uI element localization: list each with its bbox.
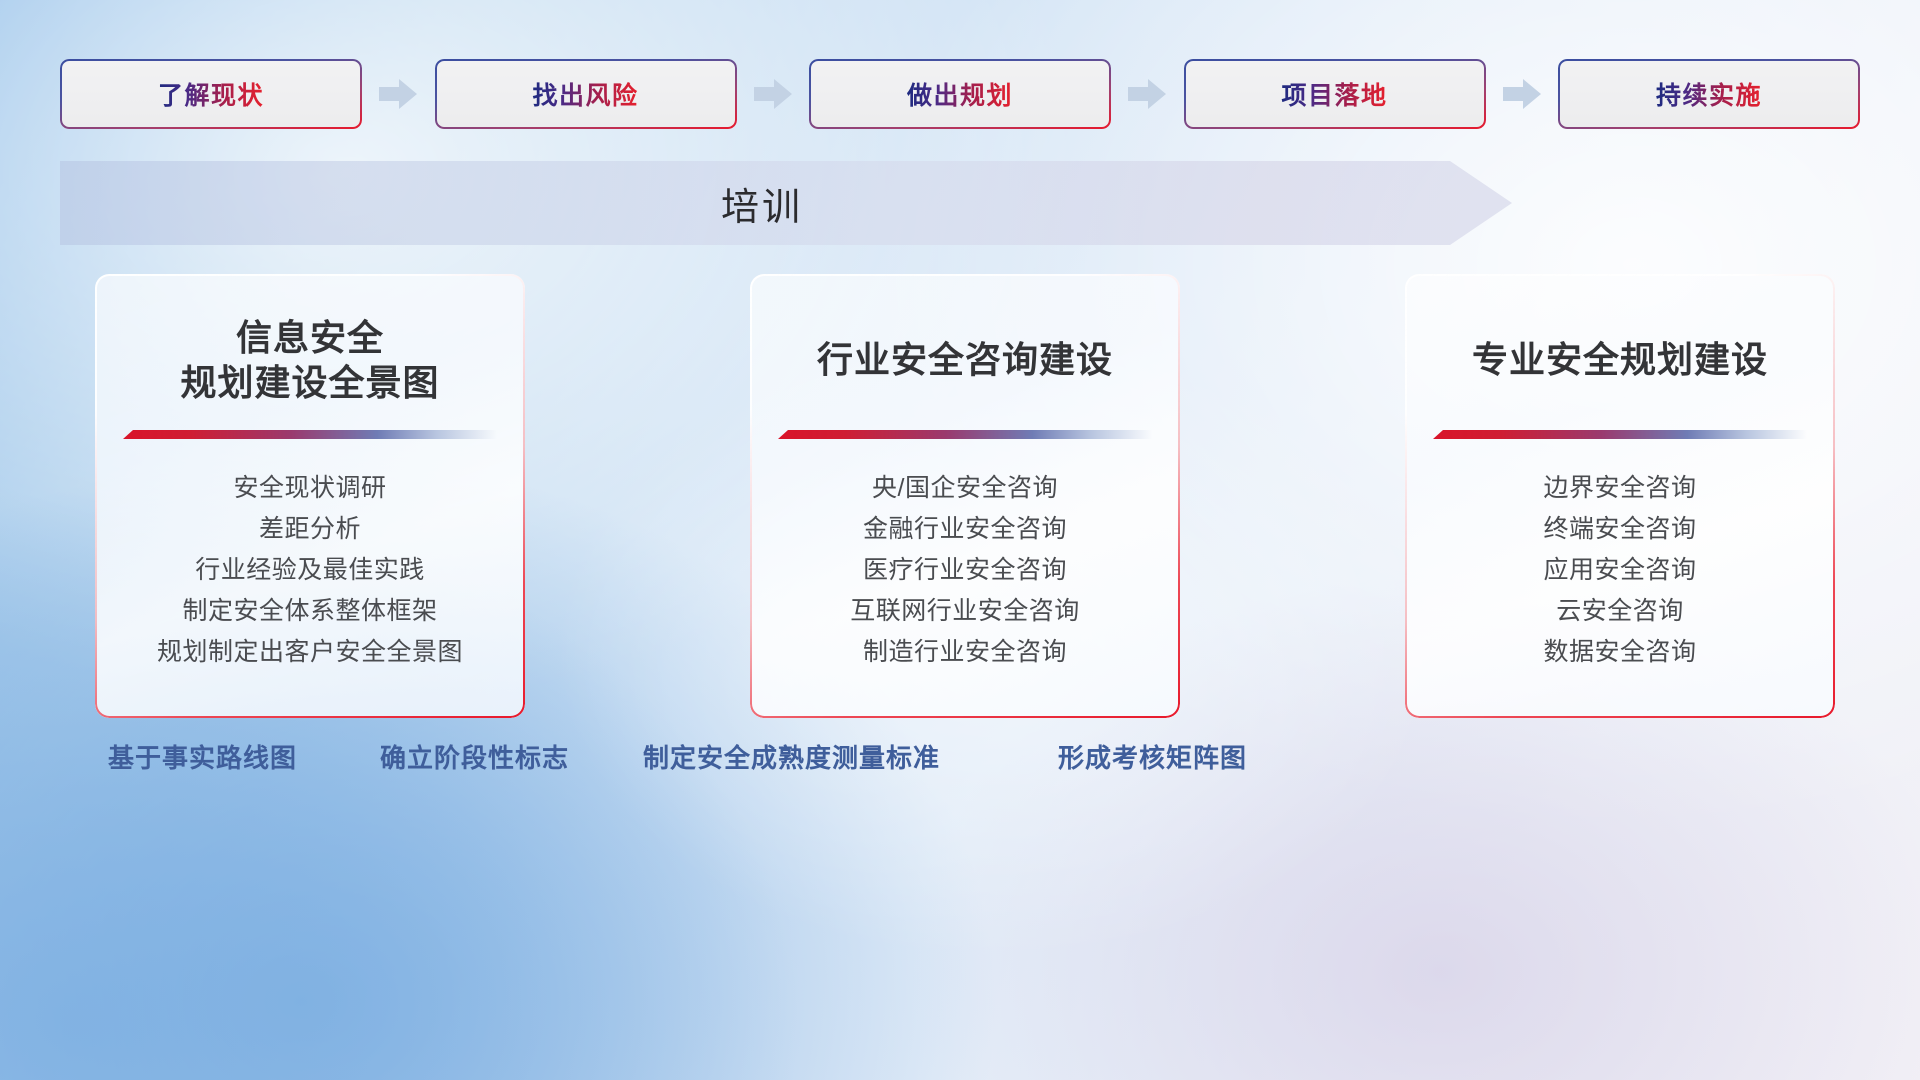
card-divider (1433, 426, 1807, 444)
list-item: 差距分析 (259, 509, 361, 550)
step-label-1: 了解现状 (158, 76, 264, 112)
arrow-right-icon (1128, 77, 1166, 111)
step-box-5[interactable]: 持续实施 (1558, 59, 1860, 129)
list-item: 制定安全体系整体框架 (182, 591, 437, 632)
list-item: 安全现状调研 (233, 468, 386, 509)
card-item-list: 安全现状调研 差距分析 行业经验及最佳实践 制定安全体系整体框架 规划制定出客户… (95, 468, 525, 673)
card-industry-security-consulting[interactable]: 行业安全咨询建设 央/国企安全咨询 金融行业安全咨询 医疗行业安全咨询 互联网行… (750, 274, 1180, 718)
footer-label-row: 基于事实路线图 确立阶段性标志 制定安全成熟度测量标准 形成考核矩阵图 (0, 738, 1920, 798)
step-box-4[interactable]: 项目落地 (1184, 59, 1486, 129)
card-title: 信息安全 规划建设全景图 (95, 274, 525, 408)
card-divider (778, 426, 1152, 444)
arrow-right-icon (754, 77, 792, 111)
card-item-list: 边界安全咨询 终端安全咨询 应用安全咨询 云安全咨询 数据安全咨询 (1405, 468, 1835, 673)
banner-title: 培训 (60, 161, 1512, 245)
training-banner: 培训 (60, 161, 1512, 245)
divider-gradient-bar (123, 430, 497, 439)
step-label-2: 找出风险 (532, 76, 638, 112)
card-info-security-blueprint[interactable]: 信息安全 规划建设全景图 安全现状调研 差距分析 行业经验及最佳实践 制定安全体… (95, 274, 525, 718)
list-item: 应用安全咨询 (1543, 550, 1696, 591)
footer-label-1: 基于事实路线图 (108, 738, 297, 775)
arrow-right-icon (379, 77, 417, 111)
footer-label-3: 制定安全成熟度测量标准 (643, 738, 940, 775)
step-box-3[interactable]: 做出规划 (809, 59, 1111, 129)
divider-gradient-bar (778, 430, 1152, 439)
list-item: 云安全咨询 (1556, 591, 1684, 632)
list-item: 互联网行业安全咨询 (850, 591, 1080, 632)
list-item: 行业经验及最佳实践 (195, 550, 425, 591)
list-item: 数据安全咨询 (1543, 632, 1696, 673)
divider-gradient-bar (1433, 430, 1807, 439)
card-group: 信息安全 规划建设全景图 安全现状调研 差距分析 行业经验及最佳实践 制定安全体… (95, 274, 1835, 718)
card-professional-security-planning[interactable]: 专业安全规划建设 边界安全咨询 终端安全咨询 应用安全咨询 云安全咨询 数据安全… (1405, 274, 1835, 718)
card-title: 专业安全规划建设 (1405, 274, 1835, 408)
step-label-5: 持续实施 (1656, 76, 1762, 112)
list-item: 金融行业安全咨询 (863, 509, 1067, 550)
footer-label-4: 形成考核矩阵图 (1058, 738, 1247, 775)
list-item: 终端安全咨询 (1543, 509, 1696, 550)
list-item: 边界安全咨询 (1543, 468, 1696, 509)
step-label-4: 项目落地 (1281, 76, 1387, 112)
step-box-2[interactable]: 找出风险 (435, 59, 737, 129)
arrow-right-icon (1503, 77, 1541, 111)
card-title: 行业安全咨询建设 (750, 274, 1180, 408)
footer-label-2: 确立阶段性标志 (380, 738, 569, 775)
list-item: 央/国企安全咨询 (872, 468, 1058, 509)
step-label-3: 做出规划 (907, 76, 1013, 112)
card-item-list: 央/国企安全咨询 金融行业安全咨询 医疗行业安全咨询 互联网行业安全咨询 制造行… (750, 468, 1180, 673)
list-item: 医疗行业安全咨询 (863, 550, 1067, 591)
card-divider (123, 426, 497, 444)
step-box-1[interactable]: 了解现状 (60, 59, 362, 129)
list-item: 规划制定出客户安全全景图 (157, 632, 463, 673)
list-item: 制造行业安全咨询 (863, 632, 1067, 673)
process-step-flow: 了解现状 找出风险 做出规划 项目落地 (60, 59, 1860, 129)
